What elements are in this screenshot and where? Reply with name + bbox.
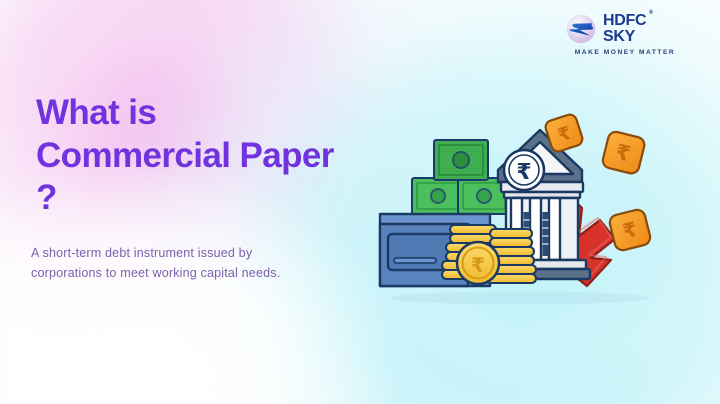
logo-hdfc-text: HDFC	[603, 13, 646, 28]
rupee-medallion: ₹	[504, 150, 544, 190]
page-subtitle: A short-term debt instrument issued by c…	[31, 243, 321, 284]
finance-illustration: ₹	[368, 108, 668, 308]
rupee-card: ₹	[608, 208, 652, 252]
svg-text:₹: ₹	[516, 160, 531, 185]
hdfc-sky-swoosh-icon	[566, 14, 596, 44]
banknote-stack	[412, 140, 510, 214]
logo-sky-text: SKY	[603, 29, 646, 44]
registered-trademark-icon: ®	[649, 11, 653, 17]
rupee-coin: ₹	[457, 242, 499, 284]
logo-wordmark: HDFC SKY ®	[603, 13, 646, 44]
rupee-card: ₹	[601, 130, 646, 175]
svg-text:₹: ₹	[471, 253, 485, 277]
page-title: What is Commercial Paper ?	[36, 92, 356, 220]
logo-row: HDFC SKY ®	[566, 13, 684, 44]
slide-canvas: HDFC SKY ® MAKE MONEY MATTER What is Com…	[0, 0, 720, 404]
brand-tagline: MAKE MONEY MATTER	[566, 49, 684, 56]
brand-logo: HDFC SKY ® MAKE MONEY MATTER	[566, 13, 684, 56]
